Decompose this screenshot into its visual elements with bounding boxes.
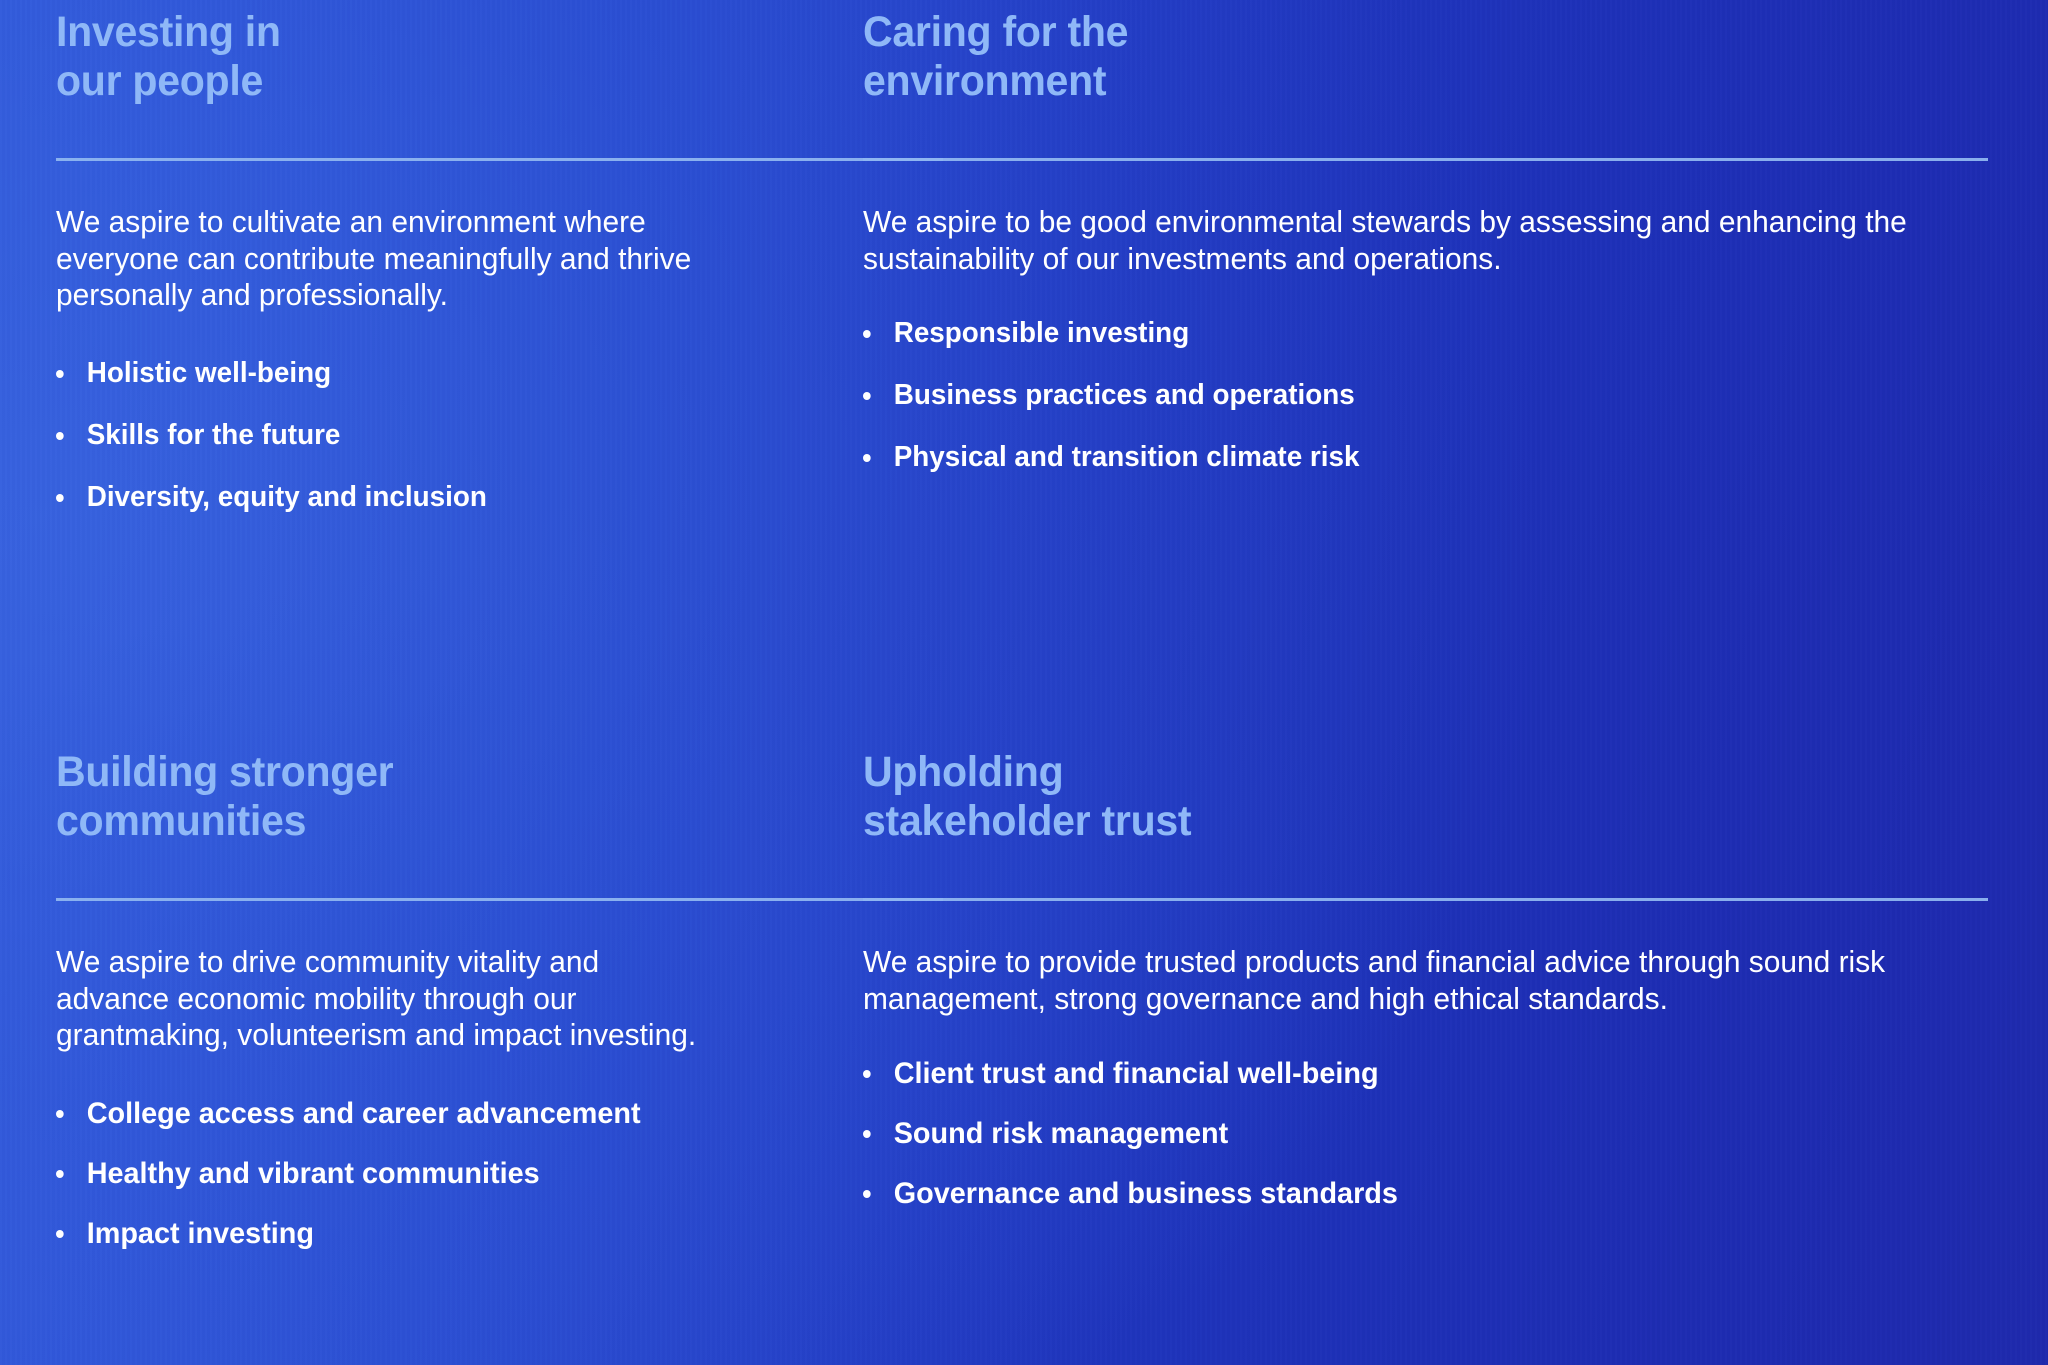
bullet-dot-icon xyxy=(863,1190,871,1198)
bullet-dot-icon xyxy=(863,1130,871,1138)
pillar-card-upholding-stakeholder-trust: Upholding stakeholder trust We aspire to… xyxy=(862,700,2048,1365)
bullet-dot-icon xyxy=(56,1170,64,1178)
bullet-dot-icon xyxy=(863,454,871,462)
pillar-description: We aspire to cultivate an environment wh… xyxy=(56,204,718,314)
list-item: Responsible investing xyxy=(863,319,1943,348)
list-item-label: Healthy and vibrant communities xyxy=(87,1157,540,1190)
pillar-card-building-stronger-communities: Building stronger communities We aspire … xyxy=(0,700,862,1365)
pillar-focus-list: Holistic well-being Skills for the futur… xyxy=(56,359,742,512)
bullet-dot-icon xyxy=(56,494,64,502)
list-item-label: Impact investing xyxy=(87,1217,314,1250)
esg-pillars-panel: Investing in our people We aspire to cul… xyxy=(0,0,2048,1365)
list-item-label: College access and career advancement xyxy=(87,1097,641,1130)
list-item: Holistic well-being xyxy=(56,359,715,388)
list-item: Sound risk management xyxy=(863,1119,1943,1149)
bullet-dot-icon xyxy=(863,330,871,338)
list-item: Physical and transition climate risk xyxy=(863,443,1943,472)
list-item: Skills for the future xyxy=(56,421,715,450)
list-item: Client trust and financial well-being xyxy=(863,1059,1943,1089)
list-item-label: Sound risk management xyxy=(894,1117,1228,1150)
list-item-label: Business practices and operations xyxy=(894,379,1355,411)
pillar-heading: Upholding stakeholder trust xyxy=(863,748,1937,845)
pillar-heading: Investing in our people xyxy=(56,8,711,105)
list-item-label: Holistic well-being xyxy=(87,357,331,389)
list-item-label: Responsible investing xyxy=(894,317,1189,349)
pillar-description: We aspire to be good environmental stewa… xyxy=(863,204,1949,277)
pillar-focus-list: Responsible investing Business practices… xyxy=(863,319,1988,472)
bullet-dot-icon xyxy=(56,370,64,378)
pillar-description: We aspire to drive community vitality an… xyxy=(56,944,718,1054)
bullet-dot-icon xyxy=(56,1230,64,1238)
heading-divider xyxy=(863,898,1988,901)
pillar-heading: Building stronger communities xyxy=(56,748,711,845)
list-item: Impact investing xyxy=(56,1219,715,1249)
bullet-dot-icon xyxy=(863,392,871,400)
pillar-focus-list: Client trust and financial well-being So… xyxy=(863,1059,1988,1209)
list-item: Healthy and vibrant communities xyxy=(56,1159,715,1189)
list-item: Business practices and operations xyxy=(863,381,1943,410)
pillar-heading: Caring for the environment xyxy=(863,8,1937,105)
heading-divider xyxy=(863,158,1988,161)
list-item-label: Physical and transition climate risk xyxy=(894,441,1360,473)
bullet-dot-icon xyxy=(56,432,64,440)
pillar-card-investing-in-our-people: Investing in our people We aspire to cul… xyxy=(0,0,862,700)
list-item-label: Client trust and financial well-being xyxy=(894,1057,1379,1090)
list-item-label: Diversity, equity and inclusion xyxy=(87,481,487,513)
bullet-dot-icon xyxy=(56,1110,64,1118)
pillar-card-grid: Investing in our people We aspire to cul… xyxy=(0,0,2048,1365)
list-item-label: Governance and business standards xyxy=(894,1177,1398,1210)
pillar-focus-list: College access and career advancement He… xyxy=(56,1099,742,1249)
list-item: Diversity, equity and inclusion xyxy=(56,483,715,512)
pillar-card-caring-for-the-environment: Caring for the environment We aspire to … xyxy=(862,0,2048,700)
heading-divider xyxy=(56,898,943,901)
list-item: College access and career advancement xyxy=(56,1099,715,1129)
heading-divider xyxy=(56,158,943,161)
list-item-label: Skills for the future xyxy=(87,419,341,451)
list-item: Governance and business standards xyxy=(863,1179,1943,1209)
bullet-dot-icon xyxy=(863,1070,871,1078)
pillar-description: We aspire to provide trusted products an… xyxy=(863,944,1949,1017)
